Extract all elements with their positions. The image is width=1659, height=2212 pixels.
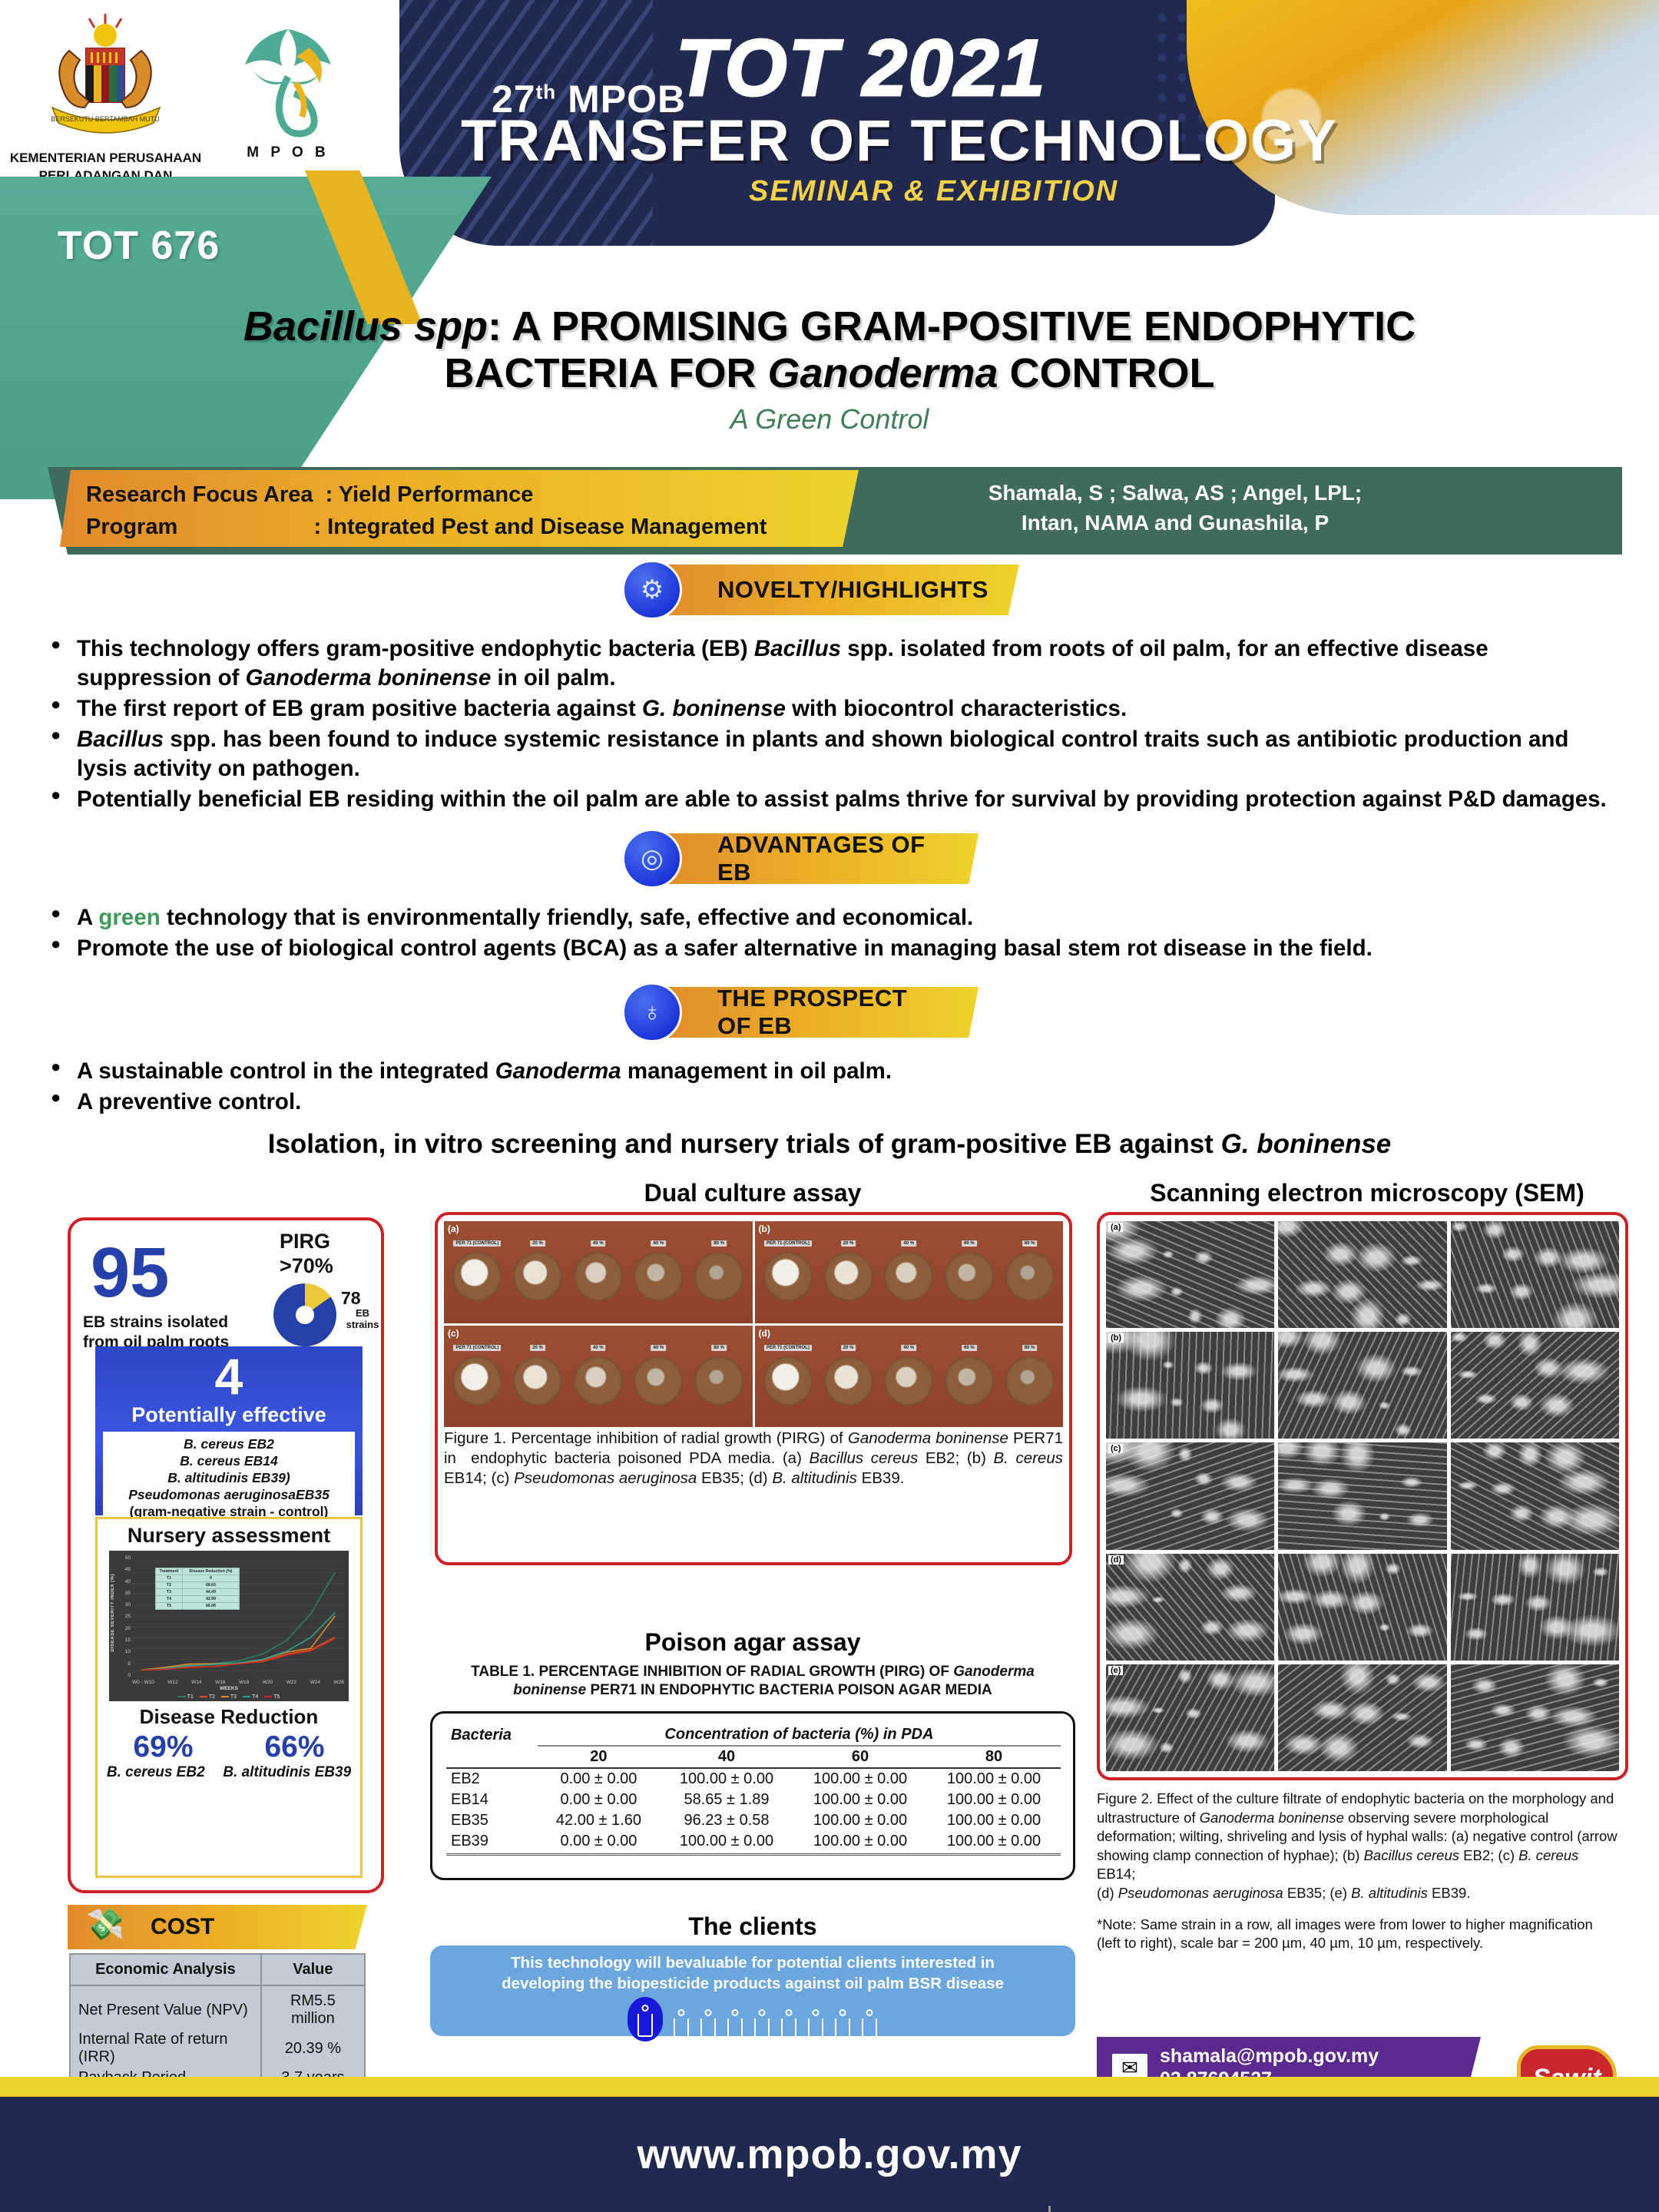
t1-bacteria: EB2: [446, 1768, 538, 1790]
poster-header: BERSEKUTU BERTAMBAH MUTU KEMENTERIAN PER…: [0, 0, 1659, 300]
chart-y-ticks: 50454035302520151050: [118, 1555, 131, 1678]
t1-conc-header: 60: [793, 1746, 927, 1768]
banner-prospect-label: THE PROSPECT OF EB: [656, 987, 979, 1038]
reduction-strain-left: B. cereus EB2: [107, 1764, 205, 1781]
person-body: [637, 2014, 653, 2037]
table-row: EB140.00 ± 0.0058.65 ± 1.89100.00 ± 0.00…: [446, 1790, 1061, 1810]
dish-label: PER 71 (CONTROL): [764, 1240, 812, 1247]
disease-severity-chart: DISEASE SEVERITY INDEX (%) 5045403530252…: [109, 1551, 349, 1701]
dish-label: 20 %: [530, 1345, 545, 1351]
petri-dish: PER 71 (CONTROL): [763, 1356, 813, 1406]
person-head: [813, 2009, 820, 2016]
panel-letter: (c): [448, 1328, 459, 1339]
table-row: T268.65: [156, 1582, 240, 1589]
sem-image: [1278, 1442, 1446, 1549]
person-head: [759, 2009, 766, 2016]
chart-legend-item: T1: [178, 1694, 194, 1700]
table-header-row: Bacteria Concentration of bacteria (%) i…: [446, 1724, 1061, 1746]
sem-image-card: [1097, 1212, 1628, 1780]
nursery-assessment-panel: Nursery assessment DISEASE SEVERITY INDE…: [95, 1517, 363, 1878]
list-item: B. cereus EB14: [106, 1452, 352, 1469]
inset-cell: 0: [182, 1575, 239, 1582]
sem-image: [1451, 1442, 1619, 1549]
reduction-pct-left: 69%: [133, 1730, 193, 1764]
results-heading-species: G. boninense: [1221, 1129, 1392, 1159]
research-focus-area: Research Focus Area : Yield Performance: [86, 478, 859, 511]
person-head: [866, 2009, 873, 2016]
pirg-table-body: EB20.00 ± 0.00100.00 ± 0.00100.00 ± 0.00…: [446, 1768, 1061, 1855]
dish-label: 60 %: [651, 1345, 667, 1351]
petri-dish: 40 %: [884, 1252, 933, 1301]
t1-conc-header: 40: [660, 1746, 793, 1768]
sem-row: [1106, 1332, 1619, 1439]
cost-value: RM5.5 million: [261, 1985, 365, 2029]
figure2-caption-block: Figure 2. Effect of the culture filtrate…: [1097, 1790, 1619, 1953]
disease-reduction-label: Disease Reduction: [98, 1705, 360, 1729]
title-genus: Bacillus spp: [243, 303, 488, 349]
chart-x-tick: W26: [334, 1680, 344, 1685]
svg-text:BERSEKUTU BERTAMBAH MUTU: BERSEKUTU BERTAMBAH MUTU: [51, 115, 159, 123]
inset-col: Treatment: [156, 1568, 183, 1575]
list-item: This technology offers gram-positive end…: [51, 634, 1618, 693]
chart-y-axis-label: DISEASE SEVERITY INDEX (%): [111, 1574, 115, 1652]
person-icon: [753, 2009, 770, 2041]
sem-image: [1278, 1664, 1446, 1771]
pirg-table: Bacteria Concentration of bacteria (%) i…: [446, 1724, 1061, 1856]
heading-poison-agar: Poison agar assay: [430, 1628, 1075, 1657]
chart-legend-item: T5: [264, 1694, 280, 1700]
table-row: EB390.00 ± 0.00100.00 ± 0.00100.00 ± 0.0…: [446, 1831, 1061, 1855]
nursery-title: Nursery assessment: [98, 1524, 360, 1548]
sem-image: [1106, 1442, 1274, 1549]
chart-series-T2: [141, 1637, 335, 1671]
t1-cell: 100.00 ± 0.00: [793, 1831, 927, 1855]
chart-legend-item: T2: [200, 1694, 215, 1700]
mpob-label: M P O B: [223, 144, 353, 161]
petri-dish: PER 71 (CONTROL): [452, 1356, 502, 1406]
list-item: A green technology that is environmental…: [51, 903, 1618, 932]
dish-label: 20 %: [530, 1240, 545, 1247]
table-row: Internal Rate of return (IRR)20.39 %: [70, 2029, 365, 2068]
chart-y-tick: 40: [118, 1579, 131, 1584]
petri-dish: 40 %: [574, 1356, 623, 1406]
petri-dish: 80 %: [694, 1252, 743, 1301]
person-body: [808, 2018, 823, 2041]
figure2-note: *Note: Same strain in a row, all images …: [1097, 1916, 1619, 1953]
list-item: B. altitudinis EB39): [106, 1469, 352, 1486]
petri-dish: 40 %: [884, 1356, 933, 1406]
petri-dish: PER 71 (CONTROL): [763, 1252, 813, 1301]
effective-strain-list: B. cereus EB2 B. cereus EB14 B. altitudi…: [103, 1432, 355, 1525]
petri-panel: (c)PER 71 (CONTROL)20 %40 %60 %80 %: [444, 1326, 753, 1428]
petri-dish: 60 %: [634, 1252, 683, 1301]
table-row: T344.49: [156, 1589, 240, 1596]
chart-y-tick: 10: [118, 1649, 131, 1654]
t1-cell: 100.00 ± 0.00: [793, 1790, 927, 1810]
person-head: [678, 2009, 685, 2016]
dish-label: 40 %: [591, 1345, 606, 1351]
person-head: [786, 2009, 793, 2016]
list-item: B. cereus EB2: [106, 1435, 352, 1452]
petri-dish: 80 %: [694, 1356, 743, 1406]
sem-image: [1106, 1221, 1274, 1328]
chart-y-tick: 45: [118, 1567, 131, 1572]
donut-sub-line2: strains: [346, 1319, 379, 1330]
chart-x-tick: W20: [263, 1680, 273, 1685]
results-heading-text: Isolation, in vitro screening and nurser…: [268, 1129, 1221, 1159]
event-subtitle: SEMINAR & EXHIBITION: [749, 175, 1118, 208]
chart-legend-item: T3: [221, 1694, 237, 1700]
authors-line-2: Intan, NAMA and Gunashila, P: [899, 508, 1452, 538]
cost-label: Net Present Value (NPV): [70, 1985, 261, 2029]
donut-count-sub: EB strains: [338, 1308, 387, 1331]
footer-tick-mark: [1048, 2206, 1051, 2212]
dish-label: 80 %: [1022, 1240, 1038, 1247]
dish-label: PER 71 (CONTROL): [764, 1345, 812, 1351]
sem-row: [1106, 1664, 1619, 1771]
chart-x-tick: W24: [310, 1680, 320, 1685]
results-section-heading: Isolation, in vitro screening and nurser…: [184, 1129, 1475, 1160]
effective-count: 4: [95, 1351, 363, 1402]
poster-root: BERSEKUTU BERTAMBAH MUTU KEMENTERIAN PER…: [0, 0, 1659, 2212]
stats-card: 95 EB strains isolated from oil palm roo…: [68, 1217, 384, 1893]
person-body: [727, 2018, 743, 2041]
panel-letter: (b): [759, 1224, 770, 1234]
chart-legend-item: T4: [243, 1694, 258, 1700]
people-icon: ♁: [622, 982, 682, 1042]
chart-y-tick: 15: [118, 1637, 131, 1643]
reduction-strain-right: B. altitudinis EB39: [223, 1764, 351, 1781]
t1-cell: 100.00 ± 0.00: [660, 1831, 793, 1855]
sem-image: [1106, 1332, 1274, 1439]
person-body: [700, 2018, 716, 2041]
cost-col-value: Value: [261, 1954, 365, 1985]
inset-cell: T4: [156, 1596, 183, 1603]
target-icon: ◎: [622, 829, 682, 889]
chart-series-T5: [141, 1639, 335, 1671]
dish-label: 40 %: [901, 1345, 916, 1351]
petri-dish: 60 %: [945, 1356, 994, 1406]
ministry-line-1: KEMENTERIAN PERUSAHAAN: [8, 150, 204, 167]
sem-image: [1278, 1554, 1446, 1661]
cost-value: 20.39 %: [261, 2029, 365, 2068]
title-line2-b: CONTROL: [998, 350, 1215, 396]
t1-cell: 42.00 ± 1.60: [538, 1810, 660, 1831]
t1-col-group: Concentration of bacteria (%) in PDA: [538, 1724, 1061, 1746]
petri-panel: (b)PER 71 (CONTROL)20 %40 %60 %80 %: [755, 1221, 1064, 1323]
person-head: [732, 2009, 739, 2016]
dish-label: 20 %: [841, 1345, 856, 1351]
dish-row: PER 71 (CONTROL)20 %40 %60 %80 %: [758, 1338, 1061, 1425]
person-body: [862, 2018, 877, 2041]
panel-letter: (a): [448, 1224, 459, 1234]
mpob-logo-icon: [223, 23, 353, 146]
t1-cell: 100.00 ± 0.00: [660, 1768, 793, 1790]
clients-description: This technology will bevaluable for pote…: [441, 1953, 1065, 1994]
dish-row: PER 71 (CONTROL)20 %40 %60 %80 %: [758, 1233, 1061, 1320]
person-icon: [807, 2009, 824, 2041]
list-item: A sustainable control in the integrated …: [51, 1057, 1618, 1086]
sem-grid: [1106, 1221, 1619, 1771]
person-body: [754, 2018, 770, 2041]
sem-image: [1278, 1332, 1446, 1439]
list-item: The first report of EB gram positive bac…: [51, 694, 1618, 724]
chart-x-tick: W22: [286, 1680, 296, 1685]
poster-title-block: Bacillus spp: A PROMISING GRAM-POSITIVE …: [184, 303, 1475, 435]
petri-dish: 20 %: [824, 1356, 873, 1406]
person-icon: [700, 2009, 717, 2041]
inset-cell: 66.06: [182, 1603, 239, 1610]
effective-strains-box: 4 Potentially effective B. cereus EB2 B.…: [95, 1346, 363, 1515]
sem-image: [1106, 1554, 1274, 1661]
table-row: T566.06: [156, 1603, 240, 1610]
list-item: Potentially beneficial EB residing withi…: [51, 785, 1618, 814]
event-logo-text: TOT 2021: [676, 23, 1046, 114]
table-row: EB20.00 ± 0.00100.00 ± 0.00100.00 ± 0.00…: [446, 1768, 1061, 1790]
sem-image: [1451, 1221, 1619, 1328]
list-item: A preventive control.: [51, 1088, 1618, 1117]
sem-image: [1451, 1332, 1619, 1439]
dish-label: PER 71 (CONTROL): [453, 1345, 501, 1351]
petri-dish: 20 %: [824, 1252, 873, 1301]
banner-novelty-label: NOVELTY/HIGHLIGHTS: [656, 565, 1019, 615]
table-header-row: Economic Analysis Value: [70, 1954, 365, 1985]
pirg-value: >70%: [280, 1254, 333, 1278]
donut-sub-line1: EB: [356, 1307, 369, 1319]
chart-y-tick: 0: [118, 1673, 131, 1678]
t1-cell: 0.00 ± 0.00: [538, 1790, 660, 1810]
title-line2-a: BACTERIA FOR: [444, 350, 767, 396]
petri-panel: (d)PER 71 (CONTROL)20 %40 %60 %80 %: [755, 1326, 1064, 1428]
person-body: [781, 2018, 796, 2041]
poster-footer: www.mpob.gov.my: [0, 2097, 1659, 2212]
dish-label: 80 %: [1022, 1345, 1038, 1351]
disease-reduction-values: 69% 66%: [98, 1730, 360, 1764]
t1-cell: 0.00 ± 0.00: [538, 1768, 660, 1790]
person-icon: [861, 2009, 878, 2041]
petri-panel: (a)PER 71 (CONTROL)20 %40 %60 %80 %: [444, 1221, 753, 1323]
petri-dish: 80 %: [1005, 1356, 1055, 1406]
table-row: EB3542.00 ± 1.6096.23 ± 0.58100.00 ± 0.0…: [446, 1810, 1061, 1831]
petri-dish: 20 %: [513, 1252, 562, 1301]
table1-title: TABLE 1. PERCENTAGE INHIBITION OF RADIAL…: [461, 1663, 1045, 1700]
chart-x-tick: W0 - W10: [132, 1680, 154, 1685]
table-header-row: TreatmentDisease Reduction (%): [156, 1568, 240, 1575]
gear-icon: ⚙: [622, 560, 682, 620]
table-subheader-row: 20406080: [446, 1746, 1061, 1768]
chart-y-tick: 20: [118, 1626, 131, 1631]
event-title: TRANSFER OF TECHNOLOGY: [461, 108, 1338, 174]
t1-bacteria: EB35: [446, 1810, 538, 1831]
t1-cell: 96.23 ± 0.58: [660, 1810, 793, 1831]
inset-cell: 68.65: [182, 1582, 239, 1589]
t1-cell: 100.00 ± 0.00: [927, 1810, 1061, 1831]
person-icon: [834, 2009, 851, 2041]
person-body: [835, 2018, 850, 2041]
tot-number-badge: TOT 676: [58, 223, 220, 269]
person-head: [705, 2009, 712, 2016]
t1-cell: 100.00 ± 0.00: [927, 1831, 1061, 1855]
dish-label: 20 %: [841, 1240, 856, 1247]
malaysia-crest-icon: BERSEKUTU BERTAMBAH MUTU: [31, 14, 180, 152]
table-row: T10: [156, 1575, 240, 1582]
chart-x-tick: W12: [167, 1680, 177, 1685]
dish-row: PER 71 (CONTROL)20 %40 %60 %80 %: [447, 1233, 750, 1320]
table-row: Net Present Value (NPV)RM5.5 million: [70, 1985, 365, 2029]
petri-dish: 40 %: [574, 1252, 623, 1301]
table1-card: Bacteria Concentration of bacteria (%) i…: [430, 1711, 1075, 1880]
effective-label: Potentially effective: [95, 1403, 363, 1427]
list-item: Bacillus spp. has been found to induce s…: [51, 725, 1618, 783]
petri-dish: PER 71 (CONTROL): [452, 1252, 502, 1301]
novelty-bullet-list: This technology offers gram-positive end…: [51, 634, 1618, 816]
person-icon: [727, 2009, 743, 2041]
sem-row: [1106, 1221, 1619, 1328]
page-subtitle: A Green Control: [184, 403, 1475, 435]
sem-image: [1451, 1554, 1619, 1661]
advantages-bullet-list: A green technology that is environmental…: [51, 903, 1618, 965]
t1-col-bacteria: Bacteria: [446, 1724, 538, 1746]
chart-inset-table: TreatmentDisease Reduction (%)T10T268.65…: [155, 1568, 240, 1610]
t1-blank: [446, 1746, 538, 1768]
cost-col-analysis: Economic Analysis: [70, 1954, 261, 1985]
author-list: Shamala, S ; Salwa, AS ; Angel, LPL; Int…: [899, 478, 1452, 538]
dish-label: 60 %: [962, 1345, 977, 1351]
sem-row: [1106, 1442, 1619, 1549]
chart-x-tick: W14: [191, 1680, 201, 1685]
chart-y-tick: 25: [118, 1614, 131, 1619]
clients-line2: developing the biopesticide products aga…: [502, 1975, 1004, 1992]
prospect-bullet-list: A sustainable control in the integrated …: [51, 1057, 1618, 1118]
donut-chart: [273, 1283, 336, 1346]
chart-x-tick: W18: [239, 1680, 249, 1685]
petri-dish: 60 %: [634, 1356, 683, 1406]
figure2-caption: Figure 2. Effect of the culture filtrate…: [1097, 1790, 1619, 1903]
inset-cell: 44.49: [182, 1589, 239, 1596]
t1-conc-header: 20: [538, 1746, 660, 1768]
petri-dish: 60 %: [945, 1252, 994, 1301]
petri-dish: 80 %: [1005, 1252, 1055, 1301]
inset-cell: 42.99: [182, 1596, 239, 1603]
t1-cell: 0.00 ± 0.00: [538, 1831, 660, 1855]
panel-letter: (d): [759, 1328, 770, 1339]
dish-label: 60 %: [651, 1240, 667, 1247]
edition-suffix: th: [536, 80, 557, 103]
contact-email[interactable]: shamala@mpob.gov.my: [1160, 2045, 1379, 2068]
title-line1-rest: : A PROMISING GRAM-POSITIVE ENDOPHYTIC: [488, 303, 1416, 349]
sem-image: [1106, 1664, 1274, 1771]
list-item: Pseudomonas aeruginosaEB35: [106, 1486, 352, 1503]
person-icon: [780, 2009, 797, 2041]
t1-cell: 100.00 ± 0.00: [793, 1810, 927, 1831]
figure1-caption: Figure 1. Percentage inhibition of radia…: [444, 1429, 1063, 1489]
person-icon: [628, 1997, 663, 2041]
person-body: [674, 2018, 689, 2041]
chart-legend: T1T2T3T4T5: [109, 1694, 349, 1700]
dish-label: 60 %: [962, 1240, 977, 1247]
person-icon: [673, 2009, 690, 2041]
chart-series-T3: [141, 1616, 335, 1670]
table-row: T442.99: [156, 1596, 240, 1603]
list-item: Promote the use of biological control ag…: [51, 934, 1618, 963]
person-head: [839, 2009, 846, 2016]
inset-cell: T5: [156, 1603, 183, 1610]
person-head: [642, 2005, 649, 2012]
sem-image: [1278, 1221, 1446, 1328]
page-title: Bacillus spp: A PROMISING GRAM-POSITIVE …: [184, 303, 1475, 397]
dish-label: 40 %: [591, 1240, 606, 1247]
heading-dual-culture: Dual culture assay: [430, 1179, 1075, 1207]
inset-cell: T1: [156, 1575, 183, 1582]
chart-y-tick: 30: [118, 1602, 131, 1608]
petri-dish-grid: (a)PER 71 (CONTROL)20 %40 %60 %80 %(b)PE…: [444, 1221, 1063, 1427]
sem-row: [1106, 1554, 1619, 1661]
strain-label-line1: EB strains isolated: [83, 1313, 228, 1331]
heading-clients: The clients: [430, 1912, 1075, 1941]
disease-reduction-strains: B. cereus EB2 B. altitudinis EB39: [98, 1764, 360, 1781]
money-hand-icon: 💸: [77, 1897, 134, 1951]
dish-label: 80 %: [711, 1345, 727, 1351]
footer-accent-bar: [0, 2077, 1659, 2097]
t1-bacteria: EB14: [446, 1790, 538, 1810]
dish-label: 40 %: [901, 1240, 916, 1247]
clients-card: This technology will bevaluable for pote…: [430, 1945, 1075, 2036]
chart-y-tick: 50: [118, 1555, 131, 1561]
t1-cell: 100.00 ± 0.00: [927, 1790, 1061, 1810]
dish-label: PER 71 (CONTROL): [453, 1240, 501, 1247]
chart-x-ticks: W0 - W10W12W14W16W18W20W22W24W26: [132, 1680, 344, 1685]
focus-bar-yellow: Research Focus Area : Yield Performance …: [60, 470, 859, 547]
petri-dish: 20 %: [513, 1356, 562, 1406]
pirg-label: PIRG: [280, 1230, 330, 1253]
footer-website-url[interactable]: www.mpob.gov.my: [637, 2131, 1022, 2178]
banner-advantages-label: ADVANTAGES OF EB: [656, 833, 979, 884]
research-program: Program : Integrated Pest and Disease Ma…: [86, 511, 859, 543]
t1-bacteria: EB39: [446, 1831, 538, 1855]
strain-count-number: 95: [91, 1233, 169, 1313]
inset-cell: T2: [156, 1582, 183, 1589]
dish-row: PER 71 (CONTROL)20 %40 %60 %80 %: [447, 1338, 750, 1425]
inset-col: Disease Reduction (%): [182, 1568, 239, 1575]
dish-label: 80 %: [711, 1240, 727, 1247]
reduction-pct-right: 66%: [264, 1730, 324, 1764]
chart-x-tick: W16: [215, 1680, 225, 1685]
heading-sem: Scanning electron microscopy (SEM): [1098, 1179, 1636, 1207]
sem-image: [1451, 1664, 1619, 1771]
cost-label: Internal Rate of return (IRR): [70, 2029, 261, 2068]
chart-y-tick: 5: [118, 1661, 131, 1667]
t1-cell: 100.00 ± 0.00: [793, 1768, 927, 1790]
chart-x-axis-label: WEEKS: [109, 1686, 349, 1691]
t1-cell: 58.65 ± 1.89: [660, 1790, 793, 1810]
authors-line-1: Shamala, S ; Salwa, AS ; Angel, LPL;: [899, 478, 1452, 508]
title-line2-genus: Ganoderma: [767, 350, 998, 396]
inset-cell: T3: [156, 1589, 183, 1596]
donut-count: 78: [341, 1288, 361, 1309]
dual-culture-card: (a)PER 71 (CONTROL)20 %40 %60 %80 %(b)PE…: [435, 1212, 1072, 1565]
t1-conc-header: 80: [927, 1746, 1061, 1768]
chart-y-tick: 35: [118, 1591, 131, 1596]
t1-cell: 100.00 ± 0.00: [927, 1768, 1061, 1790]
client-people-icons: [441, 1997, 1065, 2041]
clients-line1: This technology will bevaluable for pote…: [511, 1954, 995, 1972]
